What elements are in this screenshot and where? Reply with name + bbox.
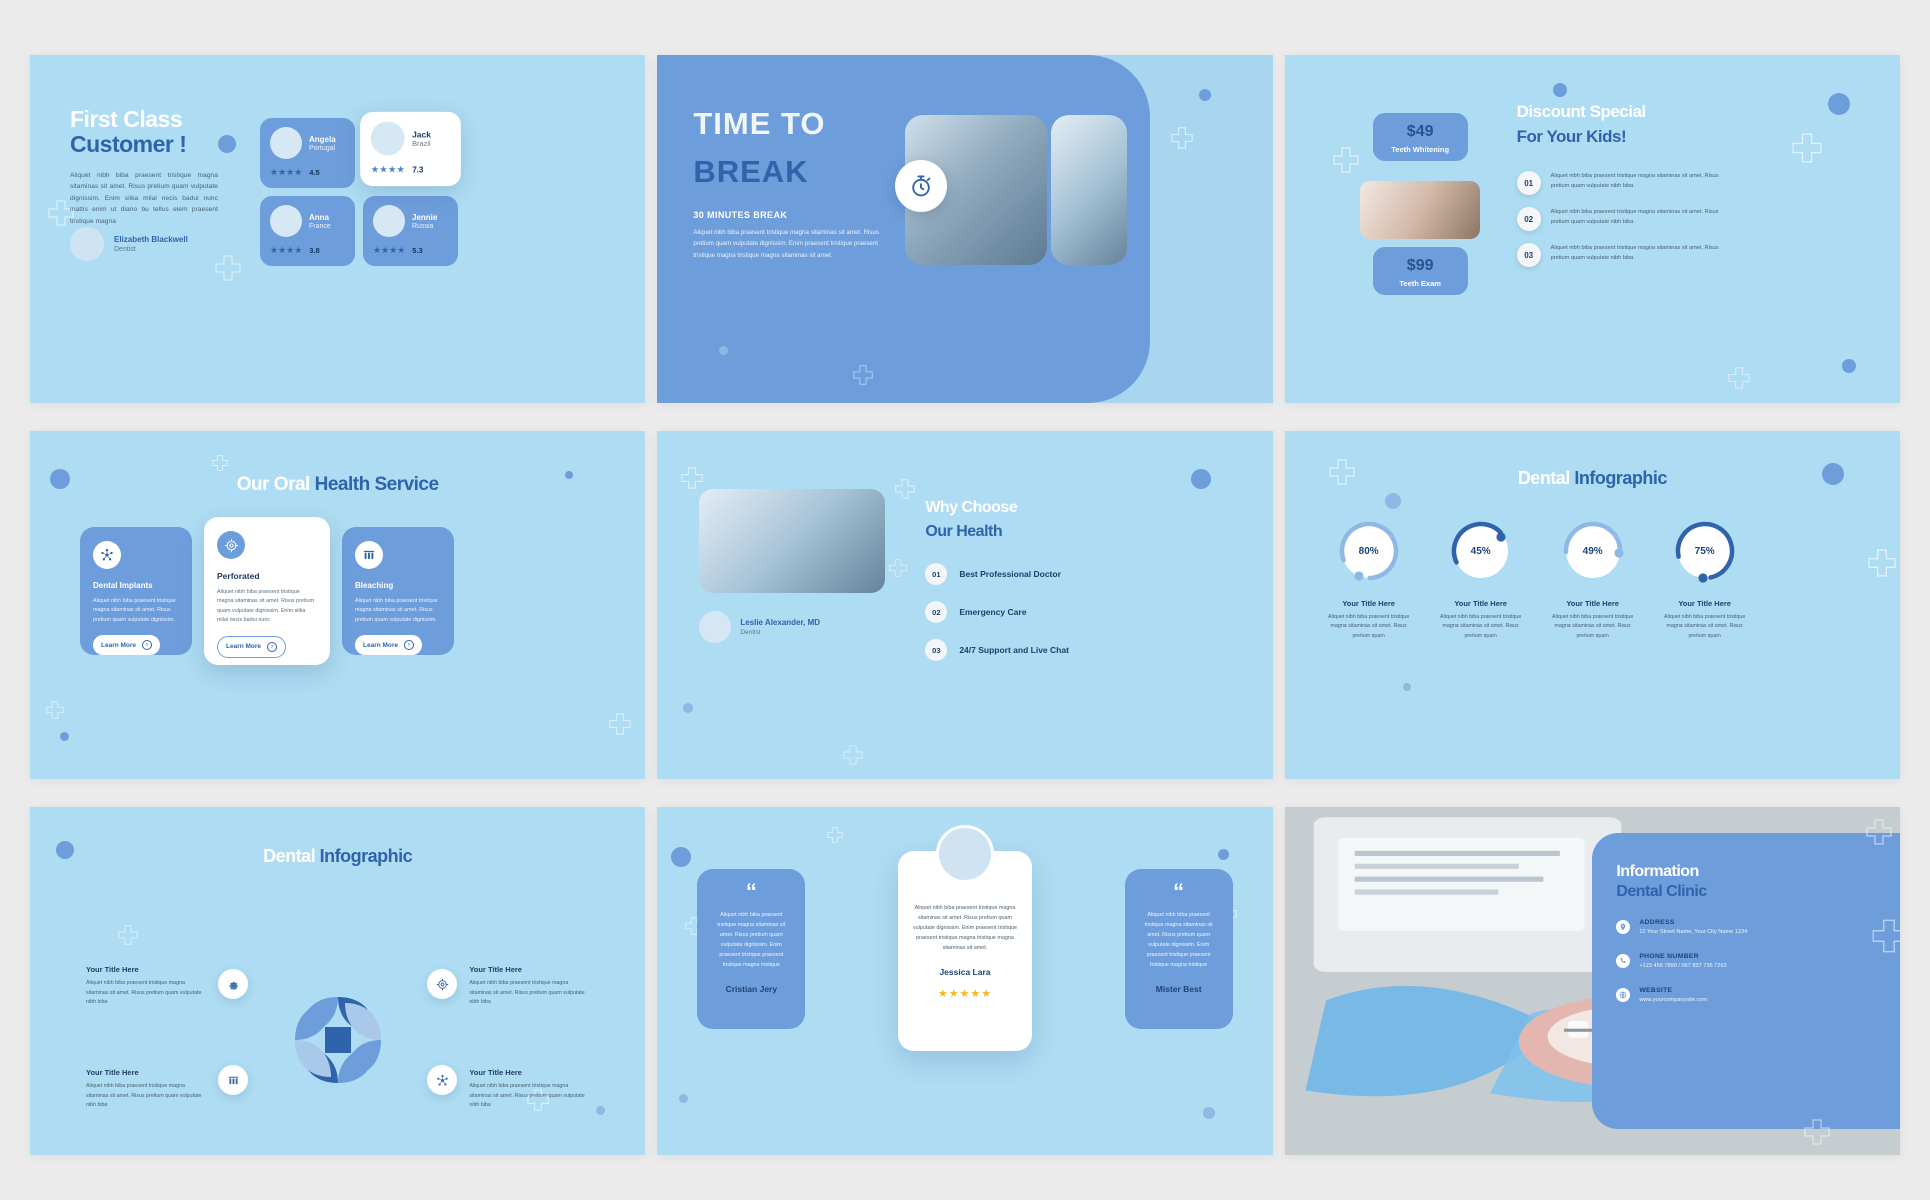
list-item-text: Aliquet nibh biba praesent tristique mag… bbox=[1551, 243, 1729, 263]
cross-decor-icon bbox=[1728, 367, 1750, 389]
price-label: Teeth Exam bbox=[1373, 279, 1468, 288]
reviewer-country: Portugal bbox=[309, 145, 336, 152]
cross-decor-icon bbox=[1792, 133, 1822, 163]
quadrant-title: Your Title Here bbox=[86, 1068, 206, 1077]
decor-dot bbox=[1403, 683, 1411, 691]
quadrant-bottom-left[interactable]: Your Title Here Aliquet nibh biba praese… bbox=[86, 1068, 206, 1111]
photo-dental-procedure bbox=[1051, 115, 1127, 265]
service-card-dental-implants[interactable]: Dental Implants Aliquet nibh biba praese… bbox=[80, 527, 192, 655]
price-card-teeth-exam[interactable]: $99 Teeth Exam bbox=[1373, 247, 1468, 295]
ring-description: Aliquet nibh biba praesent tristique mag… bbox=[1661, 613, 1749, 641]
service-card-bleaching[interactable]: Bleaching Aliquet nibh biba praesent tri… bbox=[342, 527, 454, 655]
progress-ring: 75% bbox=[1673, 519, 1737, 583]
slide-oral-health-service[interactable]: Our Oral Health Service Dental Implants … bbox=[30, 431, 645, 779]
decor-dot bbox=[60, 732, 69, 741]
heading-line-2: For Your Kids! bbox=[1517, 128, 1627, 146]
decor-dot bbox=[1553, 83, 1567, 97]
information-panel: Information Dental Clinic ADDRESS 12 You… bbox=[1592, 833, 1900, 1129]
list-item-text: Aliquet nibh biba praesent tristique mag… bbox=[1551, 171, 1729, 191]
star-rating-icon: ★★★★★ bbox=[912, 987, 1018, 1000]
testimonial-card-right[interactable]: “ Aliquet nibh biba praesent tristique m… bbox=[1125, 869, 1233, 1029]
list-number-badge: 01 bbox=[1517, 171, 1541, 195]
review-score: 3.8 bbox=[309, 246, 319, 255]
cross-decor-icon bbox=[118, 925, 138, 945]
avatar bbox=[270, 205, 302, 237]
reviewer-country: Russia bbox=[412, 223, 437, 230]
avatar bbox=[936, 825, 994, 883]
cross-decor-icon bbox=[1868, 549, 1896, 577]
doctor-role: Dentist bbox=[114, 246, 188, 253]
quadrant-top-left[interactable]: Your Title Here Aliquet nibh biba praese… bbox=[86, 965, 206, 1008]
decor-dot bbox=[683, 703, 693, 713]
reviewer-name: Anna bbox=[309, 213, 331, 222]
globe-icon bbox=[1616, 988, 1630, 1002]
decor-dot bbox=[1385, 493, 1401, 509]
cross-decor-icon bbox=[212, 455, 228, 471]
testimonial-text: Aliquet nibh biba praesent tristique mag… bbox=[1139, 910, 1219, 970]
cross-decor-icon bbox=[46, 701, 64, 719]
cross-decor-icon bbox=[843, 745, 863, 765]
button-label: Learn More bbox=[101, 642, 136, 649]
service-description: Aliquet nibh biba praesent tristique mag… bbox=[93, 597, 179, 625]
decor-dot bbox=[1191, 469, 1211, 489]
quadrant-top-right[interactable]: Your Title Here Aliquet nibh biba praese… bbox=[469, 965, 589, 1008]
price-amount: $99 bbox=[1373, 257, 1468, 275]
service-card-perforated[interactable]: Perforated Aliquet nibh biba praesent tr… bbox=[204, 517, 330, 665]
learn-more-button[interactable]: Learn More › bbox=[93, 635, 160, 655]
page-title: Our Oral Health Service bbox=[30, 475, 645, 496]
title-part-white: Dental bbox=[1518, 468, 1575, 488]
photo-dental-team bbox=[699, 489, 885, 593]
list-number-badge: 02 bbox=[925, 601, 947, 623]
title-part-blue: Infographic bbox=[320, 846, 413, 866]
ring-percent: 80% bbox=[1337, 519, 1401, 583]
ring-title: Your Title Here bbox=[1549, 599, 1637, 608]
cross-decor-icon bbox=[1872, 919, 1900, 953]
testimonial-card-center[interactable]: Aliquet nibh biba praesent tristique mag… bbox=[898, 851, 1032, 1051]
learn-more-button[interactable]: Learn More › bbox=[355, 635, 422, 655]
decor-dot bbox=[1199, 89, 1211, 101]
star-rating-icon: ★★★★ bbox=[373, 245, 405, 256]
list-item[interactable]: 01 Aliquet nibh biba praesent tristique … bbox=[1517, 171, 1729, 195]
ring-stat[interactable]: 80% Your Title Here Aliquet nibh biba pr… bbox=[1325, 519, 1413, 641]
list-number-badge: 03 bbox=[1517, 243, 1541, 267]
slide-testimonials[interactable]: “ Aliquet nibh biba praesent tristique m… bbox=[657, 807, 1272, 1155]
quadrant-title: Your Title Here bbox=[86, 965, 206, 974]
heading-line-1: Discount Special bbox=[1517, 103, 1646, 121]
arrow-right-icon: › bbox=[267, 642, 277, 652]
heading-line-2: Dental Clinic bbox=[1616, 883, 1876, 900]
list-item[interactable]: 03 24/7 Support and Live Chat bbox=[925, 639, 1069, 661]
testimonial-card-left[interactable]: “ Aliquet nibh biba praesent tristique m… bbox=[697, 869, 805, 1029]
service-description: Aliquet nibh biba praesent tristique mag… bbox=[355, 597, 441, 625]
title-part-white: Dental bbox=[263, 846, 320, 866]
contact-value: +123 456 7890 / 067 837 736 7263 bbox=[1639, 963, 1726, 969]
price-amount: $49 bbox=[1373, 123, 1468, 141]
title-part-white: Our Oral bbox=[237, 474, 315, 495]
decor-dot bbox=[671, 847, 691, 867]
list-item[interactable]: 02 Aliquet nibh biba praesent tristique … bbox=[1517, 207, 1729, 231]
title-line-1: First Class bbox=[70, 107, 186, 132]
list-item[interactable]: 01 Best Professional Doctor bbox=[925, 563, 1069, 585]
quote-mark-icon: “ bbox=[1139, 885, 1219, 898]
heading-line-2: Our Health bbox=[925, 523, 1002, 540]
decor-dot bbox=[1203, 1107, 1215, 1119]
title-part-blue: Health Service bbox=[315, 474, 439, 495]
review-card[interactable]: Angela Portugal ★★★★ 4.5 bbox=[260, 118, 355, 188]
decor-dot bbox=[1218, 849, 1229, 860]
cross-decor-icon bbox=[853, 365, 873, 385]
quote-mark-icon: “ bbox=[711, 885, 791, 898]
list-number-badge: 01 bbox=[925, 563, 947, 585]
cross-decor-icon bbox=[215, 255, 241, 281]
cross-decor-icon bbox=[895, 479, 915, 499]
star-rating-icon: ★★★★ bbox=[270, 167, 302, 178]
star-rating-icon: ★★★★ bbox=[371, 164, 405, 176]
review-score: 5.3 bbox=[412, 246, 422, 255]
ring-description: Aliquet nibh biba praesent tristique mag… bbox=[1549, 613, 1637, 641]
quadrant-description: Aliquet nibh biba praesent tristique mag… bbox=[86, 979, 206, 1008]
avatar bbox=[70, 227, 104, 261]
slide-information-dental-clinic[interactable]: Information Dental Clinic ADDRESS 12 You… bbox=[1285, 807, 1900, 1155]
progress-ring-row: 80% Your Title Here Aliquet nibh biba pr… bbox=[1325, 519, 1749, 641]
price-card-teeth-whitening[interactable]: $49 Teeth Whitening bbox=[1373, 113, 1468, 161]
contact-address[interactable]: ADDRESS 12 Your Street Name, Your City N… bbox=[1616, 919, 1876, 935]
molecule-icon bbox=[427, 1065, 457, 1095]
decor-dot bbox=[679, 1094, 688, 1103]
service-card-row: Dental Implants Aliquet nibh biba praese… bbox=[80, 527, 454, 665]
service-description: Aliquet nibh biba praesent tristique mag… bbox=[217, 588, 317, 626]
doctor-byline: Elizabeth Blackwell Dentist bbox=[70, 227, 188, 261]
ring-stat[interactable]: 45% Your Title Here Aliquet nibh biba pr… bbox=[1437, 519, 1525, 641]
headline-line-2: BREAK bbox=[693, 155, 808, 188]
list-item-label: Emergency Care bbox=[959, 607, 1026, 617]
photo-teeth-whitening bbox=[1360, 181, 1480, 239]
doctor-name: Elizabeth Blackwell bbox=[114, 235, 188, 244]
review-score: 7.3 bbox=[412, 165, 423, 175]
contact-phone[interactable]: PHONE NUMBER +123 456 7890 / 067 837 736… bbox=[1616, 953, 1876, 969]
stopwatch-icon bbox=[895, 160, 947, 212]
title-part-blue: Infographic bbox=[1574, 468, 1667, 488]
quadrant-title: Your Title Here bbox=[469, 965, 589, 974]
reviewer-country: France bbox=[309, 223, 331, 230]
decor-dot bbox=[218, 135, 236, 153]
testimonial-author: Jessica Lara bbox=[912, 967, 1018, 977]
service-name: Dental Implants bbox=[93, 581, 179, 590]
avatar bbox=[270, 127, 302, 159]
intro-paragraph: Aliquet nibh biba praesent tristique mag… bbox=[70, 170, 218, 227]
service-name: Perforated bbox=[217, 571, 317, 581]
ring-percent: 75% bbox=[1673, 519, 1737, 583]
review-card[interactable]: Jennie Russia ★★★★ 5.3 bbox=[363, 196, 458, 266]
target-icon bbox=[217, 531, 245, 559]
contact-value: www.yourcompanysite.com bbox=[1639, 997, 1707, 1003]
avatar bbox=[371, 121, 405, 155]
contact-key: ADDRESS bbox=[1639, 919, 1747, 926]
reviewer-country: Brazil bbox=[412, 140, 431, 147]
arrow-right-icon: › bbox=[404, 640, 414, 650]
progress-ring: 49% bbox=[1561, 519, 1625, 583]
reviewer-name: Angela bbox=[309, 135, 336, 144]
cross-decor-icon bbox=[1333, 147, 1359, 173]
ring-percent: 49% bbox=[1561, 519, 1625, 583]
list-number-badge: 02 bbox=[1517, 207, 1541, 231]
reviewer-name: Jack bbox=[412, 129, 431, 139]
ring-stat[interactable]: 75% Your Title Here Aliquet nibh biba pr… bbox=[1661, 519, 1749, 641]
button-label: Learn More bbox=[363, 642, 398, 649]
learn-more-button[interactable]: Learn More › bbox=[217, 636, 286, 658]
quadrant-bottom-right[interactable]: Your Title Here Aliquet nibh biba praese… bbox=[469, 1068, 589, 1111]
ring-percent: 45% bbox=[1449, 519, 1513, 583]
review-card[interactable]: Jack Brazil ★★★★ 7.3 bbox=[360, 112, 461, 186]
list-item-label: 24/7 Support and Live Chat bbox=[959, 645, 1069, 655]
list-number-badge: 03 bbox=[925, 639, 947, 661]
cross-decor-icon bbox=[1866, 819, 1892, 845]
cross-decor-icon bbox=[827, 827, 843, 843]
contact-website[interactable]: WEBSITE www.yourcompanysite.com bbox=[1616, 987, 1876, 1003]
doctor-name: Leslie Alexander, MD bbox=[740, 618, 820, 627]
decor-dot bbox=[1842, 359, 1856, 373]
slide-time-to-break[interactable]: TIME TO BREAK 30 MINUTES BREAK Aliquet n… bbox=[657, 55, 1272, 403]
heading-line-1: Information bbox=[1616, 863, 1876, 880]
reviewer-name: Jennie bbox=[412, 213, 437, 222]
gear-icon bbox=[218, 969, 248, 999]
progress-ring: 45% bbox=[1449, 519, 1513, 583]
review-card[interactable]: Anna France ★★★★ 3.8 bbox=[260, 196, 355, 266]
page-title: Dental Infographic bbox=[1285, 469, 1900, 488]
pinwheel-graphic bbox=[253, 955, 423, 1130]
title-line-2: Customer ! bbox=[70, 132, 186, 157]
cross-decor-icon bbox=[1804, 1119, 1830, 1145]
quadrant-description: Aliquet nibh biba praesent tristique mag… bbox=[469, 979, 589, 1008]
star-rating-icon: ★★★★ bbox=[270, 245, 302, 256]
avatar bbox=[373, 205, 405, 237]
decor-dot bbox=[596, 1106, 605, 1115]
molecule-icon bbox=[93, 541, 121, 569]
slide-first-class-customer[interactable]: First Class Customer ! Aliquet nibh biba… bbox=[30, 55, 645, 403]
service-name: Bleaching bbox=[355, 581, 441, 590]
arrow-right-icon: › bbox=[142, 640, 152, 650]
list-item-label: Best Professional Doctor bbox=[959, 569, 1061, 579]
cross-decor-icon bbox=[889, 559, 907, 577]
testimonial-author: Mister Best bbox=[1139, 984, 1219, 994]
ring-description: Aliquet nibh biba praesent tristique mag… bbox=[1325, 613, 1413, 641]
cross-decor-icon bbox=[609, 713, 631, 735]
list-item[interactable]: 03 Aliquet nibh biba praesent tristique … bbox=[1517, 243, 1729, 267]
quadrant-description: Aliquet nibh biba praesent tristique mag… bbox=[469, 1082, 589, 1111]
cross-decor-icon bbox=[681, 467, 703, 489]
list-item-text: Aliquet nibh biba praesent tristique mag… bbox=[1551, 207, 1729, 227]
testimonial-text: Aliquet nibh biba praesent tristique mag… bbox=[711, 910, 791, 970]
phone-icon bbox=[1616, 954, 1630, 968]
doctor-byline: Leslie Alexander, MD Dentist bbox=[699, 611, 820, 643]
testimonial-text: Aliquet nibh biba praesent tristique mag… bbox=[912, 903, 1018, 953]
ring-stat[interactable]: 49% Your Title Here Aliquet nibh biba pr… bbox=[1549, 519, 1637, 641]
button-label: Learn More bbox=[226, 643, 261, 650]
quadrant-title: Your Title Here bbox=[469, 1068, 589, 1077]
slide-dental-infographic-petals[interactable]: Dental Infographic Your Title Here Aliqu… bbox=[30, 807, 645, 1155]
doctor-role: Dentist bbox=[740, 629, 820, 636]
break-paragraph: Aliquet nibh biba praesent tristique mag… bbox=[693, 227, 893, 261]
page-title: First Class Customer ! bbox=[70, 107, 186, 157]
slide-discount-special[interactable]: $49 Teeth Whitening $99 Teeth Exam Disco… bbox=[1285, 55, 1900, 403]
slide-grid: First Class Customer ! Aliquet nibh biba… bbox=[0, 0, 1930, 1200]
ring-title: Your Title Here bbox=[1661, 599, 1749, 608]
decor-dot bbox=[1828, 93, 1850, 115]
ring-description: Aliquet nibh biba praesent tristique mag… bbox=[1437, 613, 1525, 641]
headline-line-1: TIME TO bbox=[693, 107, 825, 140]
price-label: Teeth Whitening bbox=[1373, 145, 1468, 154]
target-icon bbox=[427, 969, 457, 999]
subtitle: 30 MINUTES BREAK bbox=[693, 210, 787, 220]
list-item[interactable]: 02 Emergency Care bbox=[925, 601, 1069, 623]
slide-why-choose-our-health[interactable]: Leslie Alexander, MD Dentist Why Choose … bbox=[657, 431, 1272, 779]
review-score: 4.5 bbox=[309, 168, 319, 177]
avatar bbox=[699, 611, 731, 643]
location-pin-icon bbox=[1616, 920, 1630, 934]
testimonial-author: Cristian Jery bbox=[711, 984, 791, 994]
benefits-list: 01 Best Professional Doctor 02 Emergency… bbox=[925, 563, 1069, 661]
discount-list: 01 Aliquet nibh biba praesent tristique … bbox=[1517, 171, 1729, 267]
contact-value: 12 Your Street Name, Your City Name 1234 bbox=[1639, 929, 1747, 935]
teeth-icon bbox=[355, 541, 383, 569]
heading-line-1: Why Choose bbox=[925, 499, 1017, 516]
quadrant-description: Aliquet nibh biba praesent tristique mag… bbox=[86, 1082, 206, 1111]
teeth-icon bbox=[218, 1065, 248, 1095]
cross-decor-icon bbox=[1171, 127, 1193, 149]
ring-title: Your Title Here bbox=[1325, 599, 1413, 608]
contact-key: WEBSITE bbox=[1639, 987, 1707, 994]
ring-title: Your Title Here bbox=[1437, 599, 1525, 608]
contact-key: PHONE NUMBER bbox=[1639, 953, 1726, 960]
review-card-grid: Angela Portugal ★★★★ 4.5 Jack Brazil ★★★… bbox=[260, 118, 458, 266]
progress-ring: 80% bbox=[1337, 519, 1401, 583]
slide-dental-infographic-rings[interactable]: Dental Infographic 80% Your Title Here A… bbox=[1285, 431, 1900, 779]
page-title: Dental Infographic bbox=[30, 847, 645, 866]
